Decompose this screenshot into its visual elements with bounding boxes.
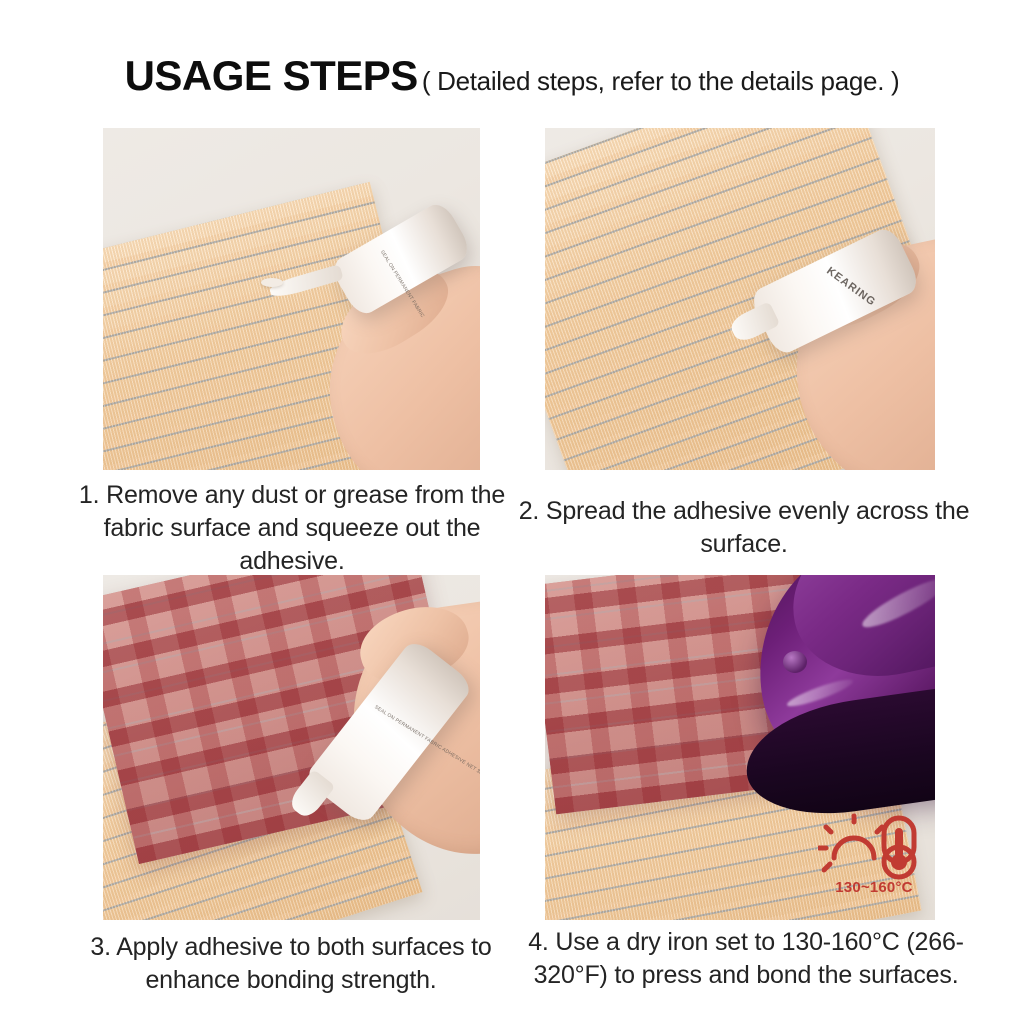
step-photo-3: SEAL ON PERMANENT FABRIC ADHESIVE NET 30… — [103, 575, 480, 920]
step-caption-1: 1. Remove any dust or grease from the fa… — [72, 479, 512, 578]
step-caption-4: 4. Use a dry iron set to 130-160°C (266-… — [518, 926, 974, 992]
step-caption-2: 2. Spread the adhesive evenly across the… — [518, 495, 970, 561]
thermometer-icon — [884, 818, 914, 877]
adhesive-bead — [261, 278, 283, 287]
temperature-label: 130~160°C — [818, 880, 930, 895]
step-photo-1: SEAL ON PERMANENT FABRIC — [103, 128, 480, 470]
page-header: USAGE STEPS( Detailed steps, refer to th… — [0, 52, 1024, 100]
temperature-badge: 130~160°C — [818, 812, 930, 908]
sun-icon — [819, 816, 882, 870]
usage-steps-infographic: USAGE STEPS( Detailed steps, refer to th… — [0, 0, 1024, 1024]
step-photo-4: 130~160°C — [545, 575, 935, 920]
iron-spray-button — [783, 651, 807, 673]
page-title: USAGE STEPS — [125, 52, 418, 99]
sun-thermometer-svg — [818, 812, 930, 880]
step-caption-3: 3. Apply adhesive to both surfaces to en… — [62, 931, 520, 997]
temperature-icon-group — [818, 812, 930, 880]
page-subtitle: ( Detailed steps, refer to the details p… — [422, 66, 900, 96]
tube-brand-text: KEARING — [824, 265, 878, 309]
step-photo-2: KEARING — [545, 128, 935, 470]
